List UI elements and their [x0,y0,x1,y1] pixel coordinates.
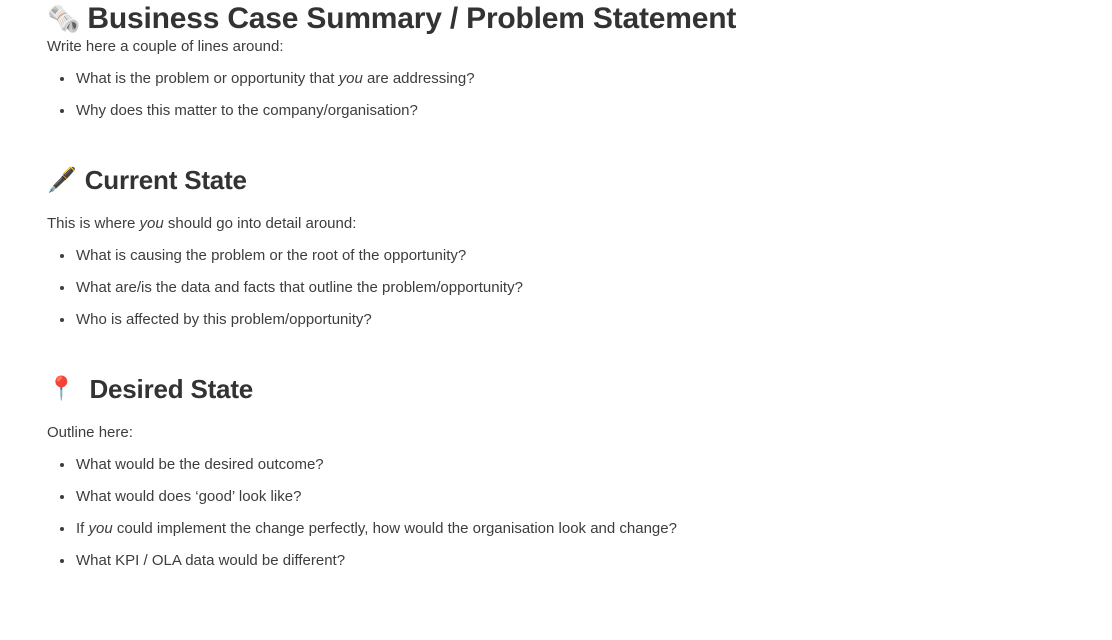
list-item-emphasis: you [89,520,113,537]
spacer [0,89,1112,100]
section-current-state: 🖋️ Current State This is where you shoul… [0,167,1112,330]
intro-text-part: should go into detail around: [164,215,357,232]
list-item: What are/is the data and facts that outl… [0,277,1112,298]
list-item-text-part: are addressing? [363,70,475,87]
list-item: What KPI / OLA data would be different? [0,550,1112,571]
spacer [0,443,1112,454]
spacer [0,234,1112,245]
list-item-text-part: Who is affected by this problem/opportun… [76,311,372,328]
list-item-text-part: What KPI / OLA data would be different? [76,552,345,569]
fountain-pen-icon: 🖋️ [47,168,77,192]
list-item: Who is affected by this problem/opportun… [0,309,1112,330]
section-heading-current-state: 🖋️ Current State [0,167,1112,193]
section-desired-state: 📍 Desired State Outline here: What would… [0,376,1112,571]
list-item: What is the problem or opportunity that … [0,68,1112,89]
section-intro-desired-state: Outline here: [0,422,1112,443]
list-item: What would does ‘good’ look like? [0,486,1112,507]
document-page: 🗞️ Business Case Summary / Problem State… [0,0,1112,571]
spacer [0,57,1112,68]
list-item: Why does this matter to the company/orga… [0,100,1112,121]
round-pushpin-icon: 📍 [47,378,75,401]
section-heading-desired-state: 📍 Desired State [0,376,1112,402]
section-intro-current-state: This is where you should go into detail … [0,213,1112,234]
list-item-text-part: could implement the change perfectly, ho… [113,520,677,537]
list-item-text-part: What is the problem or opportunity that [76,70,339,87]
list-item-text-part: What would does ‘good’ look like? [76,488,301,505]
list-item-text-part: What is causing the problem or the root … [76,247,466,264]
section-business-case-summary: 🗞️ Business Case Summary / Problem State… [0,0,1112,121]
spacer [0,475,1112,486]
spacer [0,193,1112,213]
list-item: What would be the desired outcome? [0,454,1112,475]
intro-emphasis: you [140,215,164,232]
rolled-up-newspaper-icon: 🗞️ [47,6,80,33]
spacer [0,539,1112,550]
spacer [0,402,1112,422]
list-item: What is causing the problem or the root … [0,245,1112,266]
section-spacer [0,121,1112,167]
list-item-emphasis: you [339,70,363,87]
list-item-text-part: Why does this matter to the company/orga… [76,102,418,119]
page-title-text: Business Case Summary / Problem Statemen… [87,4,736,34]
bullet-list-desired-state: What would be the desired outcome? What … [0,454,1112,571]
section-intro-business-case: Write here a couple of lines around: [0,36,1112,57]
section-spacer [0,330,1112,376]
section-heading-text: Desired State [89,376,253,402]
spacer [0,507,1112,518]
section-heading-text: Current State [85,167,247,193]
spacer [0,298,1112,309]
bullet-list-current-state: What is causing the problem or the root … [0,245,1112,330]
bullet-list-business-case: What is the problem or opportunity that … [0,68,1112,121]
list-item-text-part: What would be the desired outcome? [76,456,324,473]
intro-text-part: This is where [47,215,140,232]
list-item-text-part: If [76,520,89,537]
list-item-text-part: What are/is the data and facts that outl… [76,279,523,296]
list-item: If you could implement the change perfec… [0,518,1112,539]
spacer [0,266,1112,277]
